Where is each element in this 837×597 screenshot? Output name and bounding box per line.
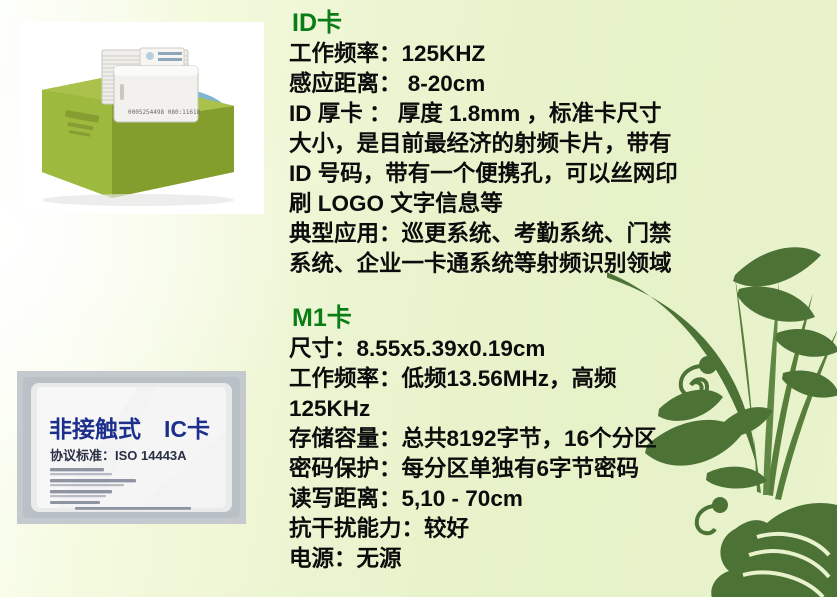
id-card-spec-line: 工作频率：125KHZ: [289, 39, 837, 69]
m1-card-spec-line: 125KHz: [289, 394, 837, 424]
svg-text:0005254498 080:11618: 0005254498 080:11618: [128, 109, 201, 116]
poster-root: 0005254498 080:11618 非接触式 IC卡 协议标准：ISO 1…: [0, 0, 837, 597]
section-id-card: ID卡 工作频率：125KHZ 感应距离： 8-20cm ID 厚卡 ： 厚度 …: [289, 8, 837, 279]
id-card-spec-line: 刷 LOGO 文字信息等: [289, 189, 837, 219]
section-m1-card: M1卡 尺寸：8.55x5.39x0.19cm 工作频率：低频13.56MHz，…: [289, 303, 837, 574]
svg-text:协议标准：ISO 14443A: 协议标准：ISO 14443A: [50, 448, 187, 463]
id-card-spec-line: 系统、企业一卡通系统等射频识别领域: [289, 249, 837, 279]
section-title-id-card: ID卡: [292, 8, 837, 38]
m1-card-spec-line: 抗干扰能力：较好: [289, 514, 837, 544]
spec-text-column: ID卡 工作频率：125KHZ 感应距离： 8-20cm ID 厚卡 ： 厚度 …: [289, 8, 837, 574]
m1-card-spec-line: 工作频率：低频13.56MHz，高频: [289, 364, 837, 394]
svg-text:非接触式 IC卡: 非接触式 IC卡: [49, 416, 210, 442]
ic-card-photo: 非接触式 IC卡 协议标准：ISO 14443A: [17, 371, 246, 524]
section-spacer: [289, 279, 837, 303]
id-card-spec-line: 大小，是目前最经济的射频卡片，带有: [289, 129, 837, 159]
m1-card-spec-line: 密码保护：每分区单独有6字节密码: [289, 454, 837, 484]
section-title-m1-card: M1卡: [292, 303, 837, 333]
m1-card-spec-line: 读写距离：5,10 - 70cm: [289, 484, 837, 514]
m1-card-spec-line: 存储容量：总共8192字节，16个分区: [289, 424, 837, 454]
id-card-spec-line: 感应距离： 8-20cm: [289, 69, 837, 99]
id-card-spec-line: ID 厚卡 ： 厚度 1.8mm ，标准卡尺寸: [289, 99, 837, 129]
m1-card-spec-line: 尺寸：8.55x5.39x0.19cm: [289, 334, 837, 364]
id-card-box-photo: 0005254498 080:11618: [20, 22, 264, 214]
id-card-spec-line: ID 号码，带有一个便携孔，可以丝网印: [289, 159, 837, 189]
id-card-spec-line: 典型应用：巡更系统、考勤系统、门禁: [289, 219, 837, 249]
m1-card-spec-line: 电源：无源: [289, 544, 837, 574]
